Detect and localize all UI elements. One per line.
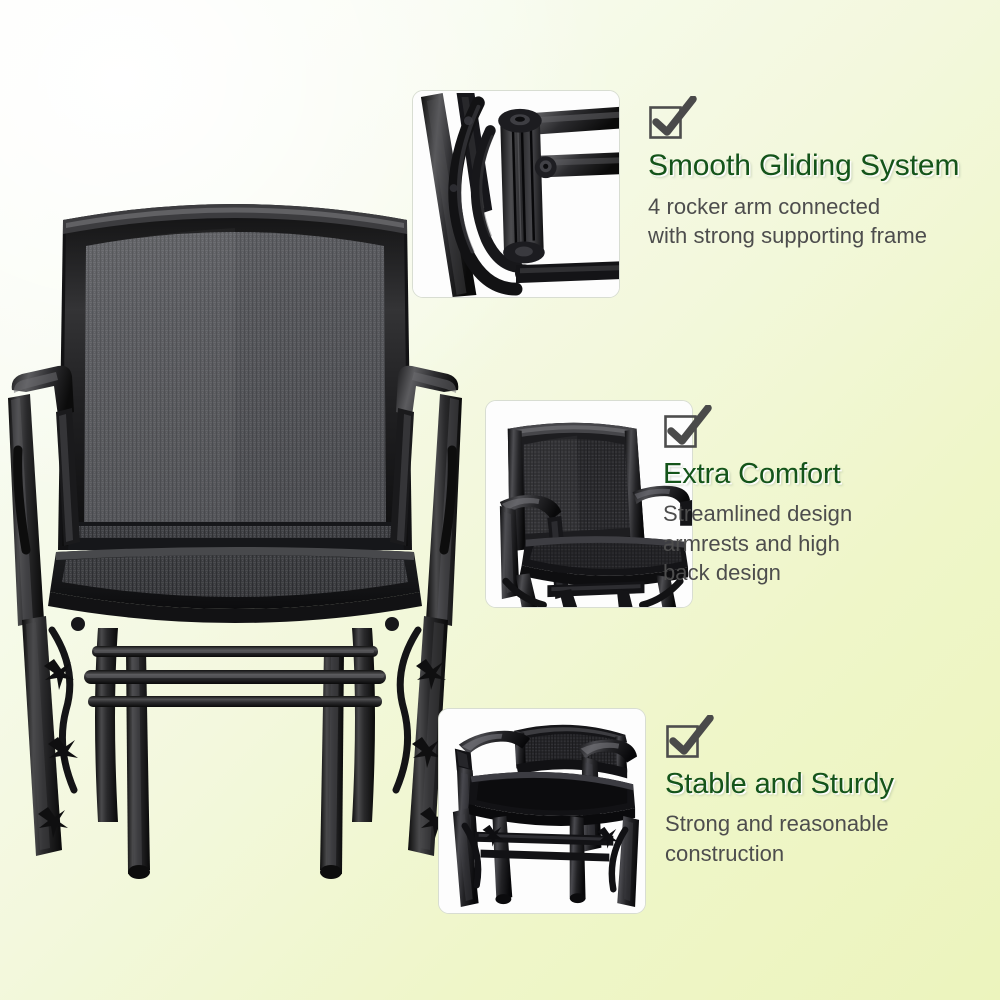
feature-thumbnail-stable-sturdy [438, 708, 646, 914]
feature-description: Strong and reasonable construction [665, 809, 995, 867]
feature-thumbnail-extra-comfort [485, 400, 693, 608]
feature-thumbnail-smooth-gliding [412, 90, 620, 298]
feature-description-line: 4 rocker arm connected [648, 192, 994, 221]
feature-description: Streamlined design armrests and high bac… [663, 499, 993, 586]
feature-block-smooth-gliding: Smooth Gliding System 4 rocker arm conne… [648, 96, 994, 250]
feature-description-line: Streamlined design [663, 499, 993, 528]
feature-description-line: back design [663, 558, 993, 587]
infographic-canvas: Smooth Gliding System 4 rocker arm conne… [0, 0, 1000, 1000]
feature-block-stable-sturdy: Stable and Sturdy Strong and reasonable … [665, 715, 995, 868]
checkbox-checked-icon [663, 405, 713, 451]
feature-description-line: armrests and high [663, 529, 993, 558]
checkbox-checked-icon [665, 715, 715, 761]
feature-description-line: with strong supporting frame [648, 221, 994, 250]
feature-description: 4 rocker arm connected with strong suppo… [648, 192, 994, 250]
feature-description-line: construction [665, 839, 995, 868]
hero-product-image [0, 150, 470, 890]
feature-title: Extra Comfort [663, 458, 993, 490]
feature-title: Smooth Gliding System [648, 149, 994, 183]
feature-block-extra-comfort: Extra Comfort Streamlined design armrest… [663, 405, 993, 587]
feature-title: Stable and Sturdy [665, 768, 995, 800]
feature-description-line: Strong and reasonable [665, 809, 995, 838]
checkbox-checked-icon [648, 96, 698, 142]
